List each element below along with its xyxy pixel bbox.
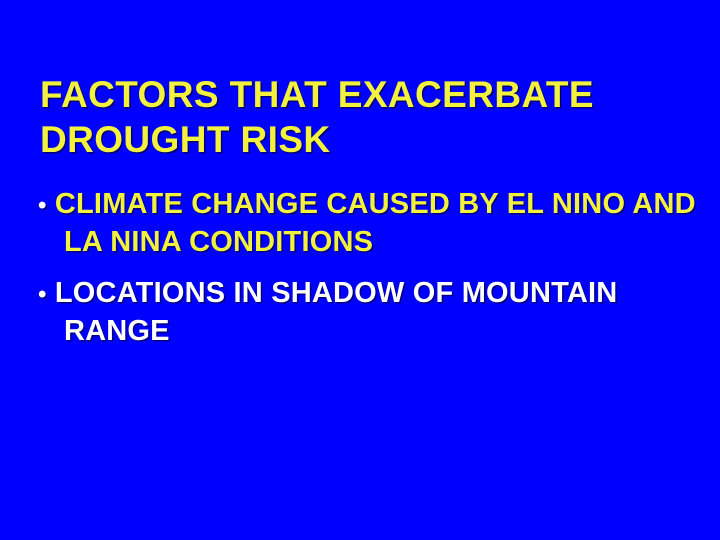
bullet-item-1: • CLIMATE CHANGE CAUSED BY EL NINO AND L… <box>38 186 708 261</box>
slide-title-line-1: FACTORS THAT EXACERBATE <box>40 72 688 117</box>
slide-title-line-2: DROUGHT RISK <box>40 117 688 162</box>
slide-body: • CLIMATE CHANGE CAUSED BY EL NINO AND L… <box>38 186 708 364</box>
presentation-slide: FACTORS THAT EXACERBATE DROUGHT RISK • C… <box>0 0 720 540</box>
bullet-item-2: • LOCATIONS IN SHADOW OF MOUNTAIN RANGE <box>38 275 708 350</box>
slide-title: FACTORS THAT EXACERBATE DROUGHT RISK <box>40 72 688 162</box>
bullet-marker-icon: • <box>38 192 47 219</box>
bullet-item-1-text: CLIMATE CHANGE CAUSED BY EL NINO AND LA … <box>55 188 696 258</box>
bullet-marker-icon: • <box>38 281 47 308</box>
bullet-item-2-text: LOCATIONS IN SHADOW OF MOUNTAIN RANGE <box>55 277 618 347</box>
